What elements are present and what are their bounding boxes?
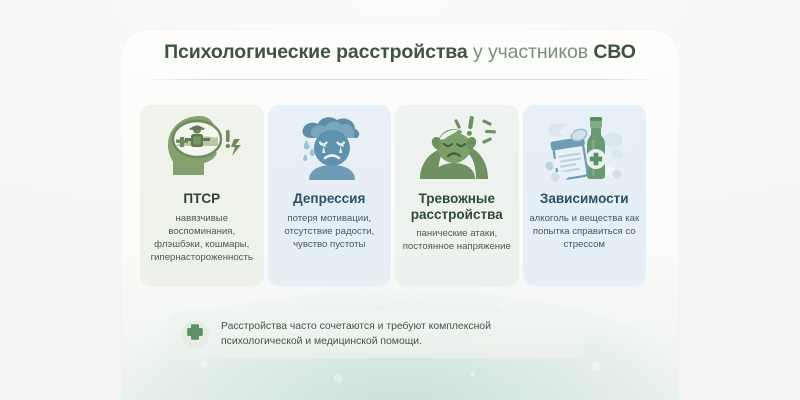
card-title: Тревожные расстройства bbox=[395, 191, 519, 222]
card-description: навязчивые воспоминания, флэшбэки, кошма… bbox=[140, 212, 264, 265]
page-title-main: Психологические расстройства bbox=[164, 41, 468, 63]
bottle-and-pills-icon bbox=[539, 110, 629, 187]
card-description: панические атаки, постоянное напряжение bbox=[395, 227, 519, 253]
sad-face-rain-cloud-icon bbox=[287, 112, 371, 185]
note-badge bbox=[181, 321, 209, 349]
card-title: Зависимости bbox=[523, 191, 647, 207]
card-icon-slot bbox=[268, 105, 392, 185]
head-soldier-thought-icon bbox=[160, 113, 244, 184]
card-icon-slot bbox=[395, 105, 519, 185]
summary-note: Расстройства часто сочетаются и требуют … bbox=[168, 311, 584, 358]
head-in-hands-exclamation-icon bbox=[412, 113, 502, 184]
card-title: ПТСР bbox=[140, 191, 264, 207]
card-description: алкоголь и вещества как попытка справить… bbox=[523, 212, 647, 252]
note-text: Расстройства часто сочетаются и требуют … bbox=[221, 320, 491, 349]
card-icon-slot bbox=[523, 105, 647, 185]
disorder-card-addiction[interactable]: Зависимости алкоголь и вещества как попы… bbox=[523, 105, 647, 286]
page-title: Психологические расстройства у участнико… bbox=[0, 41, 800, 64]
page-title-middle: у участников bbox=[468, 41, 594, 63]
page-title-suffix: СВО bbox=[593, 41, 636, 63]
card-title: Депрессия bbox=[268, 191, 392, 207]
disorder-card-row: ПТСР навязчивые воспоминания, флэшбэки, … bbox=[140, 105, 646, 286]
medical-cross-icon bbox=[186, 323, 204, 346]
disorder-card-depression[interactable]: Депрессия потеря мотивации, отсутствие р… bbox=[268, 105, 392, 286]
note-line-1: Расстройства часто сочетаются и требуют … bbox=[221, 321, 491, 332]
card-description: потеря мотивации, отсутствие радости, чу… bbox=[268, 212, 392, 252]
title-divider bbox=[148, 79, 652, 80]
note-line-2: психологической и медицинской помощи. bbox=[221, 335, 491, 350]
card-icon-slot bbox=[140, 105, 264, 185]
disorder-card-ptsr[interactable]: ПТСР навязчивые воспоминания, флэшбэки, … bbox=[140, 105, 264, 286]
infographic-canvas: Психологические расстройства у участнико… bbox=[0, 0, 800, 400]
disorder-card-anxiety[interactable]: Тревожные расстройства панические атаки,… bbox=[395, 105, 519, 286]
